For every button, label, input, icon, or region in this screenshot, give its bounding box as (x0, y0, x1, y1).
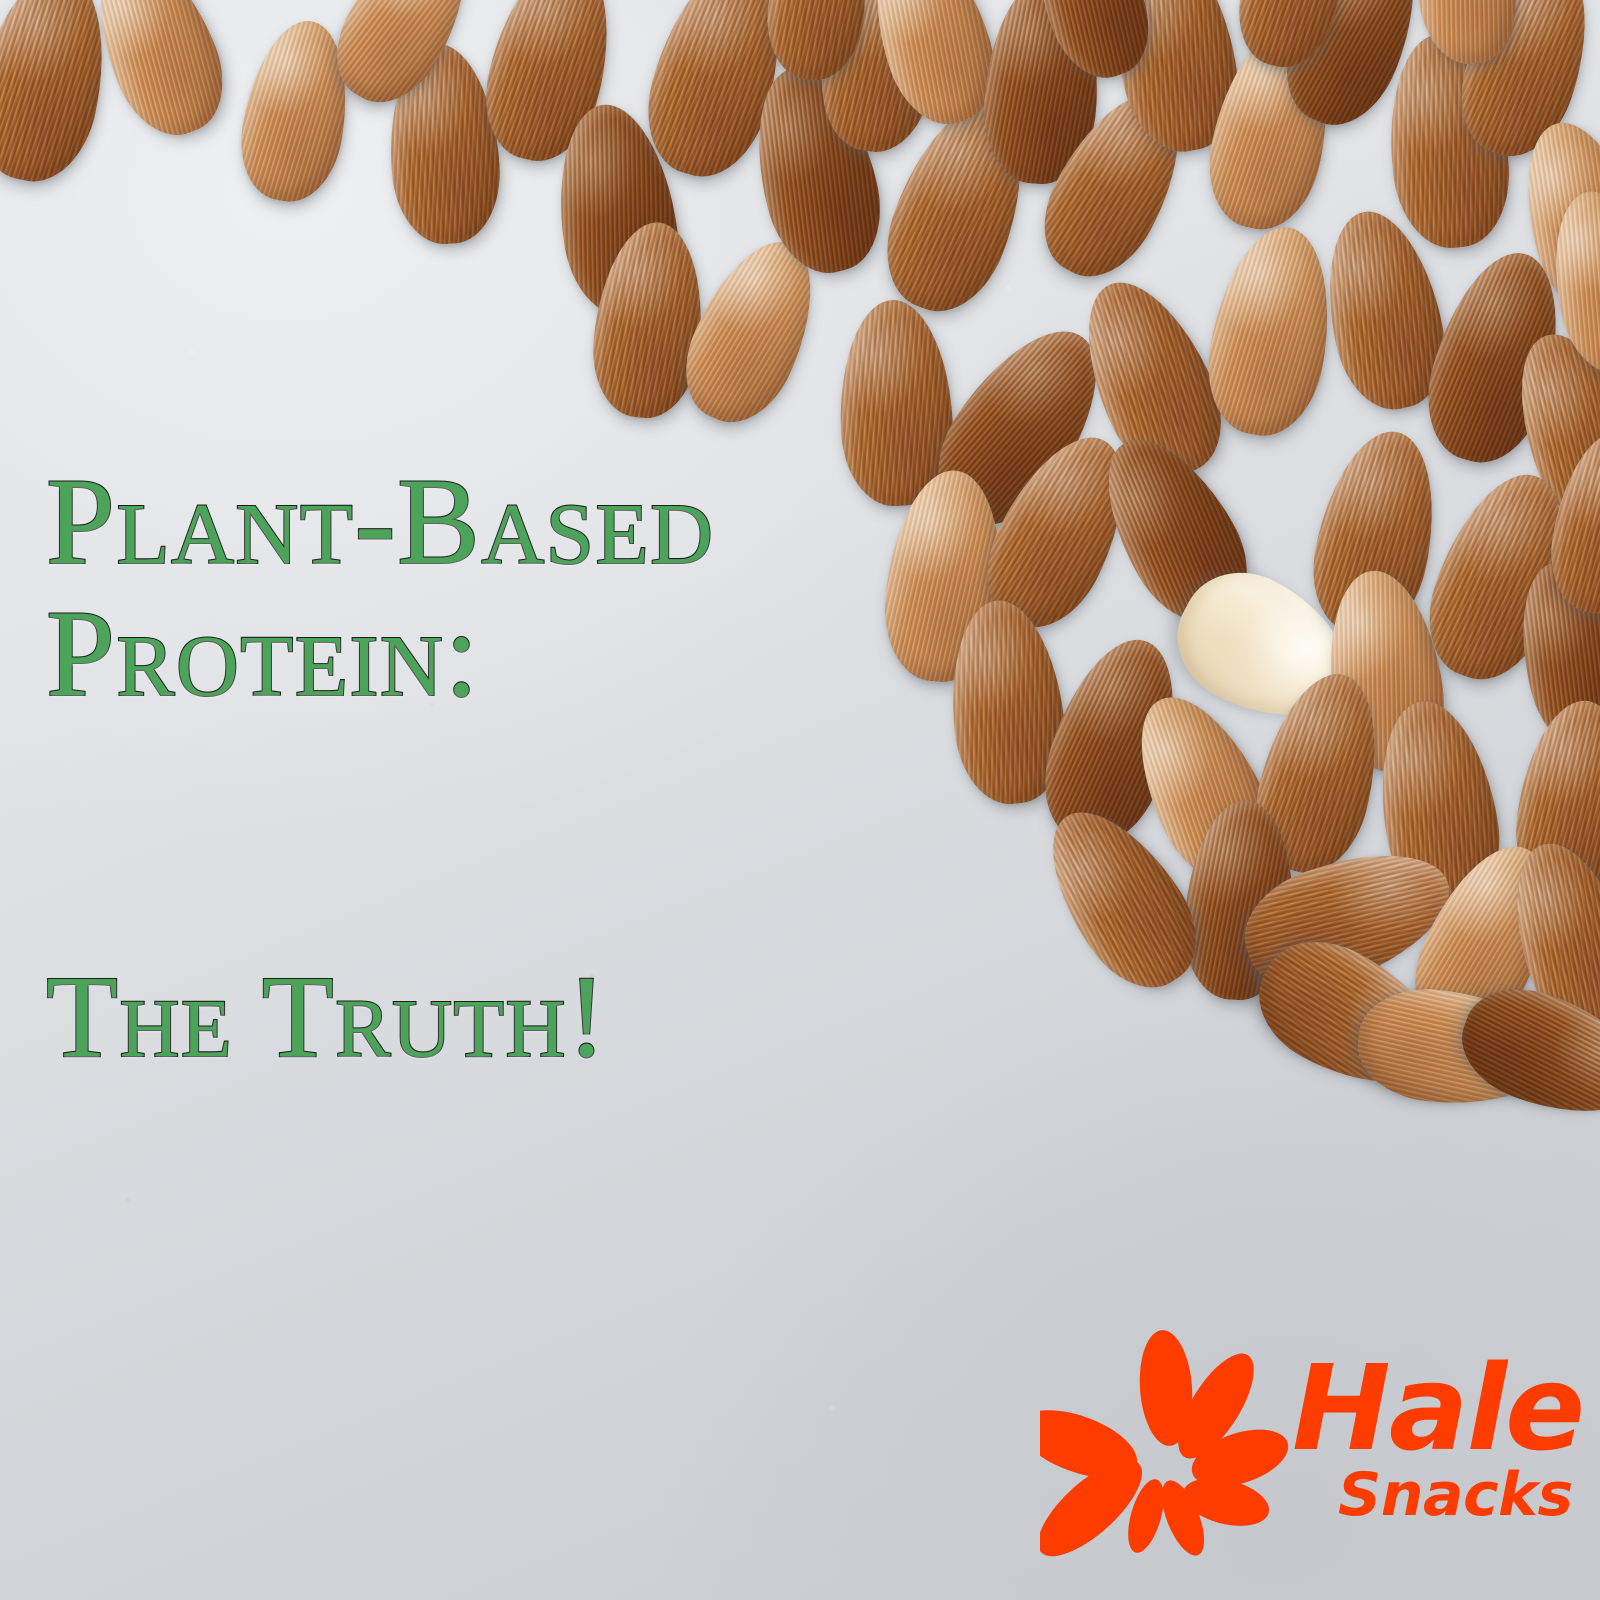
subheadline: The Truth! (46, 958, 608, 1076)
headline-line-1: Plant-Based (46, 460, 1046, 584)
headline-block: Plant-Based Protein: (46, 460, 1046, 716)
almond (1197, 218, 1346, 445)
headline-line-2: Protein: (46, 592, 1046, 716)
brand-name-secondary: Snacks (1338, 1465, 1582, 1525)
logo-wordmark: Hale Snacks (1292, 1354, 1582, 1549)
pinwheel-burst-icon (1040, 1330, 1290, 1560)
brand-name-primary: Hale (1292, 1354, 1582, 1463)
poster-canvas: Plant-Based Protein: The Truth! Hale Sna… (0, 0, 1600, 1600)
brand-logo[interactable]: Hale Snacks (1040, 1330, 1580, 1560)
